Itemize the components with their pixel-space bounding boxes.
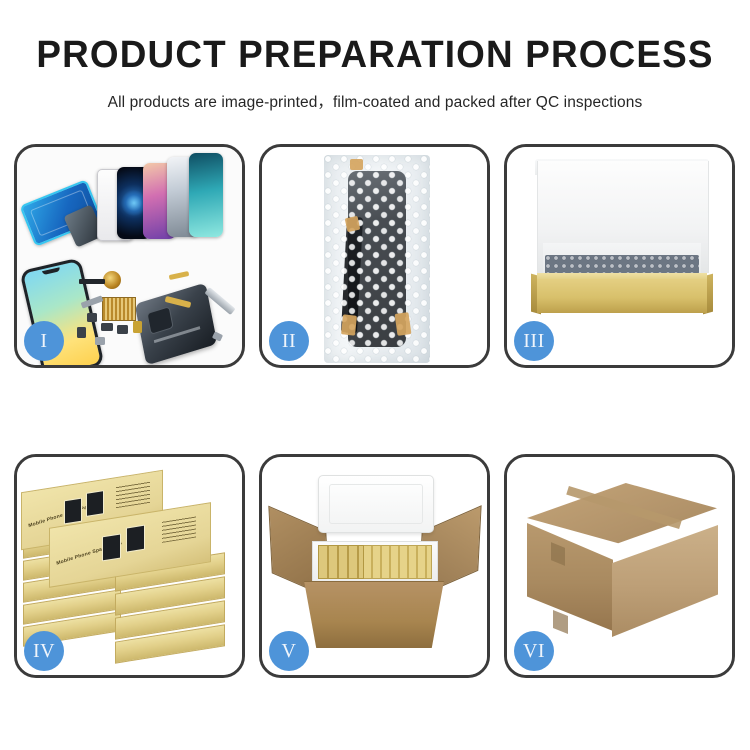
small-component-icon	[117, 325, 128, 334]
panel-badge-4: IV	[24, 631, 64, 671]
carton-front-icon	[298, 581, 450, 648]
process-panel-5[interactable]: V	[259, 454, 490, 678]
print-text-block-icon	[116, 481, 150, 508]
tape-piece-icon	[350, 159, 363, 170]
tape-piece-icon	[345, 216, 361, 232]
panel-badge-1: I	[24, 321, 64, 361]
tape-piece-icon	[395, 312, 412, 336]
process-panel-4[interactable]: Mobile Phone Spare Parts Mobile Phone Sp…	[14, 454, 245, 678]
phone-notch-icon	[42, 267, 60, 275]
bubble-texture-icon	[324, 155, 430, 363]
panel-badge-6: VI	[514, 631, 554, 671]
yellow-boxes-stack-icon	[318, 545, 364, 579]
battery-strip-icon	[79, 279, 105, 284]
screen-print-icon	[86, 490, 104, 517]
gold-component-icon	[133, 321, 142, 333]
small-component-icon	[77, 327, 86, 338]
process-panel-6[interactable]: VI	[504, 454, 735, 678]
small-component-icon	[101, 323, 113, 331]
small-component-icon	[87, 313, 97, 322]
process-panel-grid: I II	[14, 144, 736, 678]
panel-badge-5: V	[269, 631, 309, 671]
panel-badge-3: III	[514, 321, 554, 361]
page-header: PRODUCT PREPARATION PROCESS All products…	[0, 0, 750, 112]
foam-box-lid-icon	[318, 475, 434, 533]
small-component-icon	[95, 337, 105, 345]
panel-badge-2: II	[269, 321, 309, 361]
screen-print-icon	[64, 498, 82, 525]
bubble-wrap-bag-icon	[324, 155, 430, 363]
screen-print-icon	[102, 533, 121, 561]
page-subtitle: All products are image-printed，film-coat…	[0, 90, 750, 112]
screen-print-icon	[126, 525, 145, 553]
process-panel-1[interactable]: I	[14, 144, 245, 368]
yellow-box-front-icon	[537, 279, 707, 313]
chip-grid-icon	[102, 297, 136, 321]
process-panel-2[interactable]: II	[259, 144, 490, 368]
teal-phone-icon	[189, 153, 223, 237]
speaker-coil-icon	[103, 271, 121, 289]
tape-piece-icon	[341, 314, 357, 335]
process-panel-3[interactable]: III	[504, 144, 735, 368]
page-title: PRODUCT PREPARATION PROCESS	[11, 36, 739, 76]
print-text-block-icon	[162, 516, 196, 543]
